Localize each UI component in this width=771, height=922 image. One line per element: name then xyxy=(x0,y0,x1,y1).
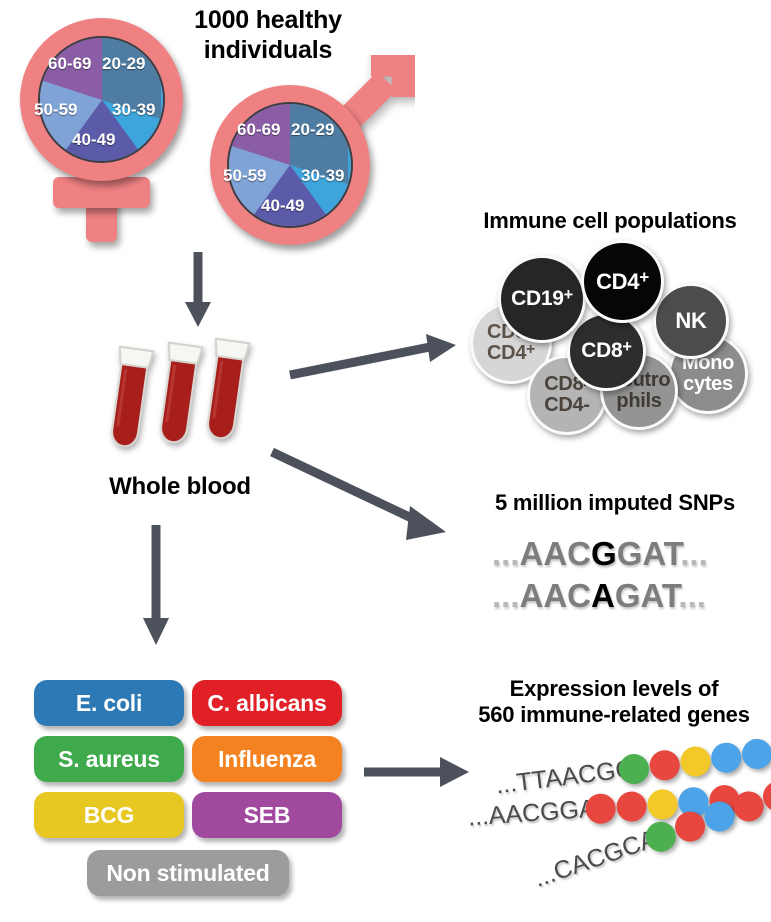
immune-cell-label: CD8-CD4- xyxy=(544,374,589,416)
male-pie-label-30-39: 30-39 xyxy=(301,166,344,186)
stimulation-pill-s-aureus[interactable]: S. aureus xyxy=(34,736,184,782)
snp-variant-allele: G xyxy=(591,535,617,572)
immune-cell-label: Monocytes xyxy=(682,353,734,395)
gene-bead xyxy=(679,745,712,778)
stimulation-pill-non-stimulated[interactable]: Non stimulated xyxy=(87,850,289,896)
male-pie-label-60-69: 60-69 xyxy=(237,120,280,140)
expression-title-line2: 560 immune-related genes xyxy=(460,702,768,728)
immune-cell-label: CD8+CD4+ xyxy=(487,322,535,364)
arrow-blood-to-stimulation xyxy=(140,525,172,647)
immune-cell-cd8p-cd4p: CD8+CD4+ xyxy=(470,302,552,384)
stimulation-pill-bcg[interactable]: BCG xyxy=(34,792,184,838)
immune-cell-cd8n-cd4n: CD8-CD4- xyxy=(527,355,607,435)
gene-bead xyxy=(740,737,771,770)
blood-tubes-group xyxy=(107,338,257,450)
male-symbol: 20-29 30-39 40-49 50-59 60-69 xyxy=(205,55,415,260)
snp-pre: AAC xyxy=(520,535,592,572)
gene-bead xyxy=(648,749,681,782)
immune-cell-nk: NK xyxy=(653,283,729,359)
immune-cell-neutrophils: Neutrophils xyxy=(600,352,678,430)
arrow-blood-to-immune xyxy=(288,333,460,379)
snp-prefix: ... xyxy=(492,577,520,614)
immune-cell-cd8p: CD8+ xyxy=(567,312,646,391)
stimulation-pill-c-albicans[interactable]: C. albicans xyxy=(192,680,342,726)
immune-cell-cd19p: CD19+ xyxy=(498,255,586,343)
male-pie-label-40-49: 40-49 xyxy=(261,196,304,216)
expression-title-line1: Expression levels of xyxy=(460,676,768,702)
immune-cell-label: CD19+ xyxy=(511,288,573,310)
pie-label-60-69: 60-69 xyxy=(48,54,91,74)
arrow-cohort-to-blood xyxy=(182,252,214,330)
snp-variant-allele: A xyxy=(591,577,615,614)
immune-cell-label: CD4+ xyxy=(596,270,649,293)
female-symbol: 20-29 30-39 40-49 50-59 60-69 xyxy=(14,12,189,247)
snps-title: 5 million imputed SNPs xyxy=(460,490,770,516)
snp-post: GAT xyxy=(615,577,679,614)
male-pie-label-50-59: 50-59 xyxy=(223,166,266,186)
pie-label-40-49: 40-49 xyxy=(72,130,115,150)
immune-cell-label: NK xyxy=(675,309,706,332)
gene-bead xyxy=(710,741,743,774)
immune-cell-cd4p: CD4+ xyxy=(581,240,664,323)
arrow-blood-to-snps xyxy=(270,450,460,550)
snp-sequence-row: ...AACGGAT... xyxy=(492,535,708,573)
pie-label-30-39: 30-39 xyxy=(112,100,155,120)
cohort-title-line1: 1000 healthy xyxy=(168,6,368,36)
whole-blood-label: Whole blood xyxy=(80,473,280,501)
snp-suffix: ... xyxy=(680,535,708,572)
snp-prefix: ... xyxy=(492,535,520,572)
stimulation-pill-seb[interactable]: SEB xyxy=(192,792,342,838)
immune-cell-label: CD8+ xyxy=(581,340,631,362)
snp-suffix: ... xyxy=(678,577,706,614)
immune-cell-label: Neutrophils xyxy=(608,370,671,412)
snp-pre: AAC xyxy=(520,577,592,614)
female-stem-horizontal xyxy=(53,177,150,208)
pie-label-50-59: 50-59 xyxy=(34,100,77,120)
male-pie-label-20-29: 20-29 xyxy=(291,120,334,140)
immune-populations-title: Immune cell populations xyxy=(455,208,765,234)
stimulation-pill-e-coli[interactable]: E. coli xyxy=(34,680,184,726)
stimulation-pill-influenza[interactable]: Influenza xyxy=(192,736,342,782)
arrow-stimulation-to-expression xyxy=(364,752,472,792)
gene-bead xyxy=(616,791,648,823)
expression-title: Expression levels of 560 immune-related … xyxy=(460,676,768,728)
snp-sequence-row: ...AACAGAT... xyxy=(492,577,706,615)
immune-cell-monocytes: Monocytes xyxy=(668,334,748,414)
pie-label-20-29: 20-29 xyxy=(102,54,145,74)
snp-post: GAT xyxy=(617,535,681,572)
